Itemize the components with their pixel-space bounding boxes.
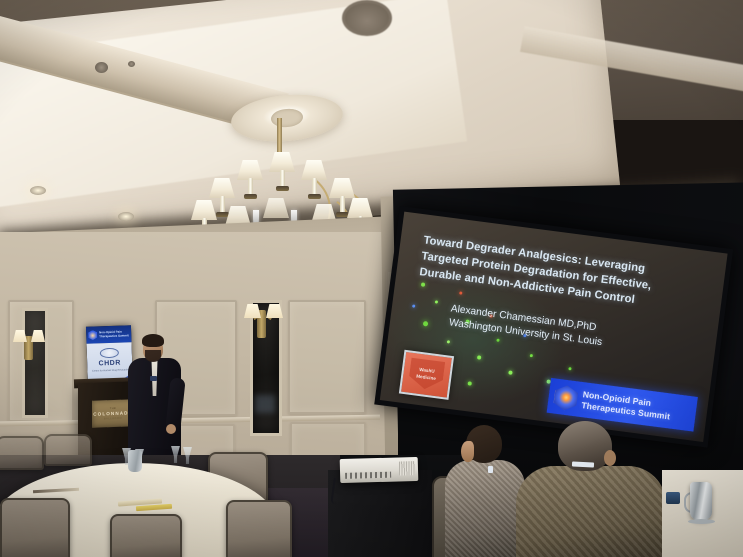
- drinking-cup: [666, 492, 680, 504]
- audience-torso: [445, 460, 525, 557]
- speaker-beard: [145, 350, 161, 362]
- chandelier-shade: [329, 178, 355, 198]
- banquet-chair: [0, 498, 70, 557]
- wall-mirror-panel: [250, 300, 282, 436]
- smoke-detector-icon: [128, 61, 135, 67]
- hexagon-icon: [88, 330, 97, 340]
- recessed-downlight-icon: [30, 186, 46, 195]
- audience-torso: [516, 466, 666, 557]
- chandelier-candle: [340, 196, 345, 213]
- pitcher-body: [690, 482, 712, 520]
- table-water-pitcher: [128, 450, 142, 472]
- silver-water-pitcher: [690, 482, 716, 524]
- chandelier-candle: [312, 178, 317, 195]
- recessed-downlight-icon: [118, 212, 134, 221]
- sprinkler-head-icon: [95, 62, 108, 73]
- chandelier-shade: [269, 152, 295, 172]
- pitcher-base: [688, 519, 715, 524]
- chandelier-candle: [280, 170, 285, 187]
- chandelier-shade: [209, 178, 235, 198]
- monitor-header-bar: Non-Opioid Pain Therapeutics Summit: [86, 325, 133, 344]
- chdr-brand: CHDR: [98, 360, 120, 368]
- audience-ear: [604, 450, 616, 466]
- audience-badge: [572, 461, 594, 467]
- projector-vent: [399, 461, 415, 475]
- chdr-seal-icon: [100, 348, 119, 359]
- speaker-hair: [142, 334, 164, 347]
- chandelier-bobeche: [276, 186, 289, 191]
- chandelier-bobeche: [244, 194, 257, 199]
- chandelier-candle: [220, 196, 225, 213]
- mirror-reflection: [255, 395, 275, 413]
- washu-shield-icon: WashU Medicine: [408, 357, 446, 391]
- projector-table: [328, 470, 432, 557]
- washu-logo-line-2: Medicine: [416, 373, 436, 382]
- chdr-brand-sub: Centre for Human Drug Research: [92, 368, 128, 372]
- summit-logo: Non-Opioid Pain Therapeutics Summit: [546, 378, 697, 432]
- chandelier-candle: [248, 178, 253, 195]
- projector-ports: [345, 472, 391, 479]
- projector: [340, 457, 419, 483]
- chandelier-bobeche: [216, 212, 229, 217]
- projection-screen: Toward Degrader Analgesics: Leveraging T…: [374, 206, 733, 448]
- audience-face: [461, 441, 474, 462]
- speaker-badge: [150, 376, 157, 381]
- banquet-chair: [110, 514, 182, 557]
- plaque-line-1: THE: [110, 407, 116, 410]
- washu-medicine-logo: WashU Medicine: [399, 349, 454, 399]
- monitor-header-text: Non-Opioid Pain Therapeutics Summit: [99, 330, 129, 338]
- plaque-line-3: BALLROOM: [104, 417, 122, 421]
- banquet-chair: [226, 500, 292, 557]
- wall-panel: [288, 300, 366, 414]
- chandelier-bobeche: [336, 212, 349, 217]
- chandelier-shade: [237, 160, 263, 180]
- banquet-chair: [0, 436, 44, 470]
- chandelier-bobeche: [308, 194, 321, 199]
- chandelier-shade: [301, 160, 327, 180]
- wall-mirror-panel: [22, 308, 48, 418]
- plaque-line-2: COLONNADE: [93, 410, 133, 416]
- hexagon-icon: [553, 384, 579, 412]
- summit-logo-text: Non-Opioid Pain Therapeutics Summit: [581, 390, 672, 422]
- conference-room-photo: Toward Degrader Analgesics: Leveraging T…: [0, 0, 743, 557]
- banquet-chair: [44, 434, 92, 466]
- monitor-header-line-2: Therapeutics Summit: [99, 334, 129, 338]
- speaker-hand: [166, 424, 176, 434]
- ceiling-speaker-icon: [342, 0, 392, 36]
- audience-badge: [488, 466, 493, 473]
